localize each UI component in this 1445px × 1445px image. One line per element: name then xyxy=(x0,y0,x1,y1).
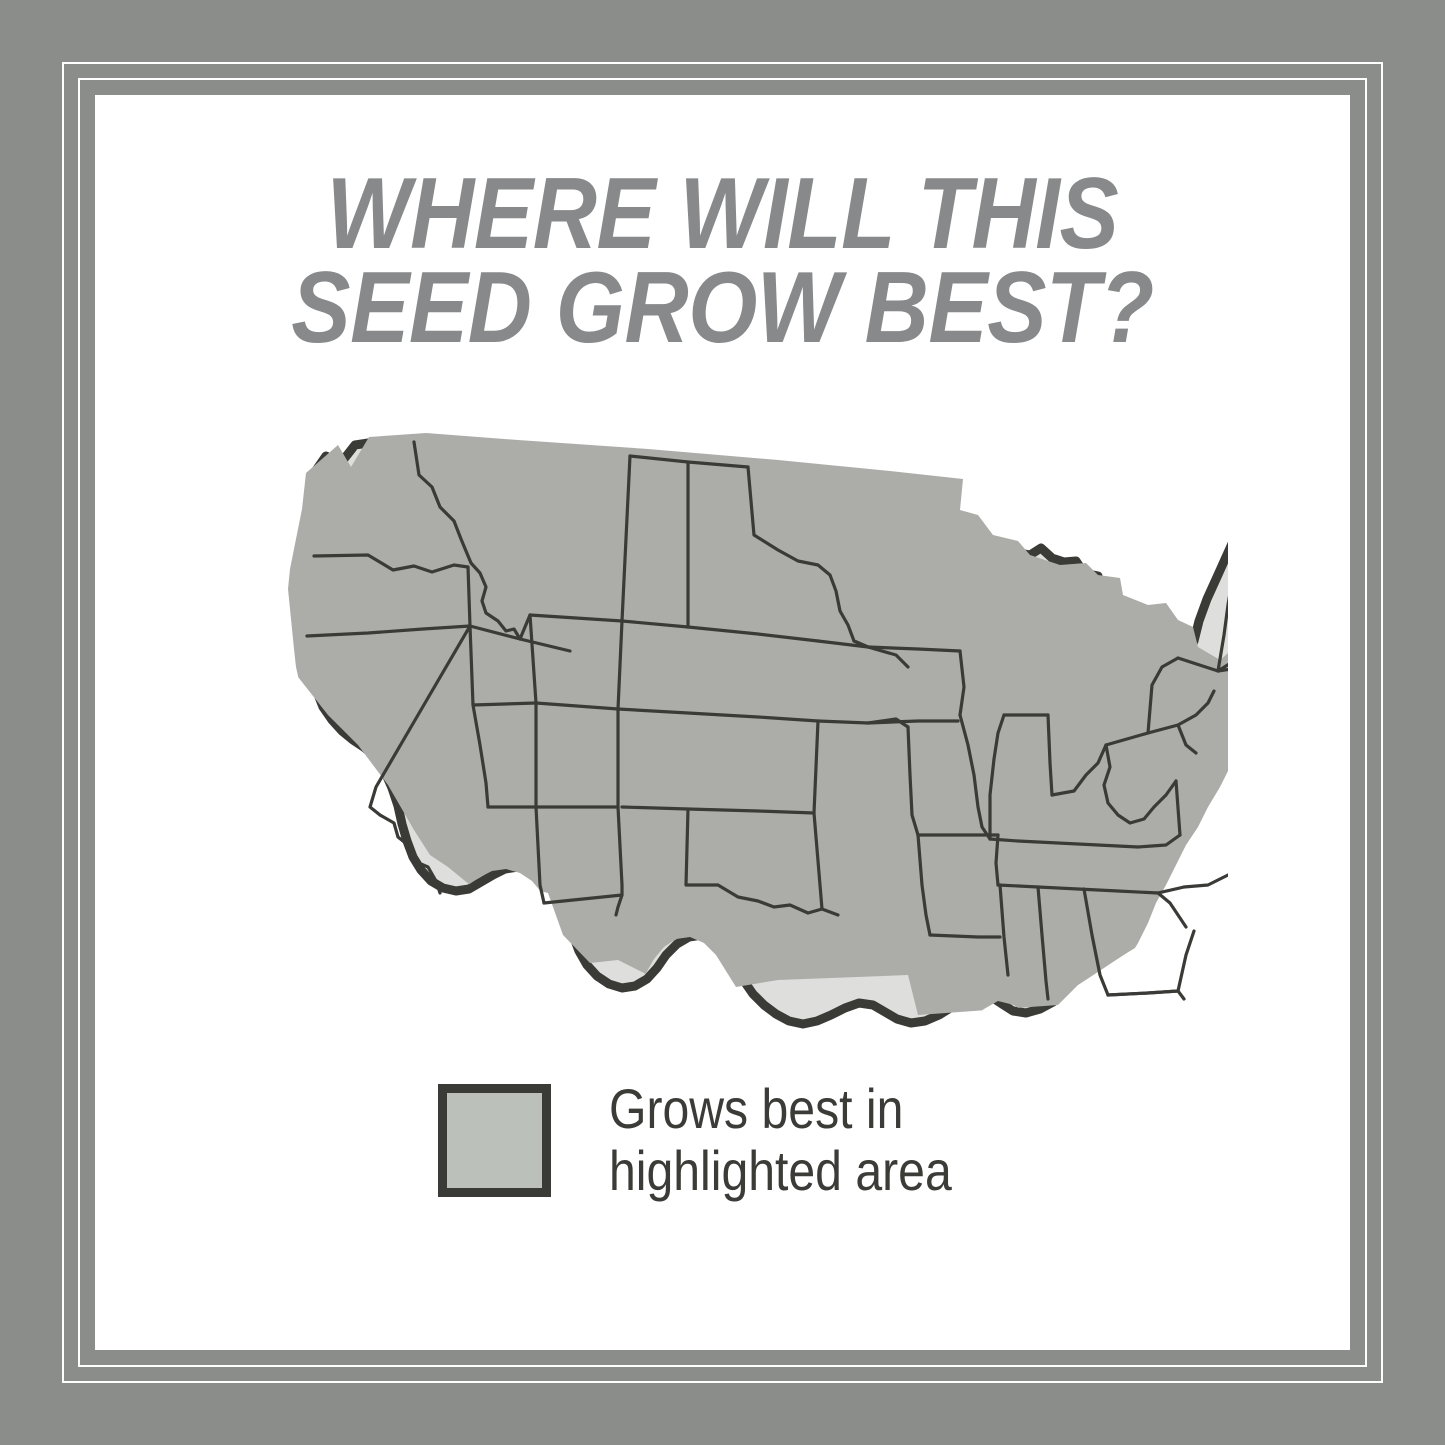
content-sheet: WHERE WILL THIS SEED GROW BEST? xyxy=(95,95,1350,1350)
map-container xyxy=(95,415,1350,1095)
decorative-frame-outer: WHERE WILL THIS SEED GROW BEST? xyxy=(62,62,1383,1383)
legend-label-line-1: Grows best in xyxy=(609,1078,952,1140)
map-legend: Grows best in highlighted area xyxy=(95,1078,1350,1202)
legend-swatch-icon xyxy=(438,1084,551,1197)
page-title-line-1: WHERE WILL THIS xyxy=(206,167,1240,261)
page-title: WHERE WILL THIS SEED GROW BEST? xyxy=(95,167,1350,355)
legend-label-line-2: highlighted area xyxy=(609,1140,952,1202)
decorative-frame-inner: WHERE WILL THIS SEED GROW BEST? xyxy=(78,78,1367,1367)
legend-label: Grows best in highlighted area xyxy=(609,1078,952,1202)
us-growing-zone-map xyxy=(218,415,1228,1075)
page-title-line-2: SEED GROW BEST? xyxy=(206,261,1240,355)
